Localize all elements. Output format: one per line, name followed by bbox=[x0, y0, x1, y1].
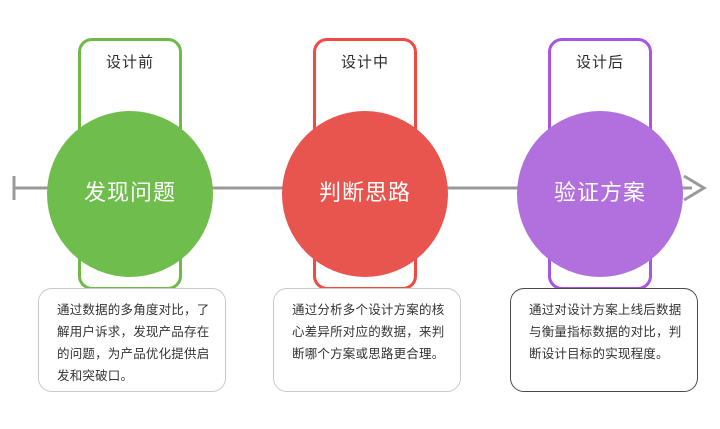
stage-circle-2[interactable]: 判断思路 bbox=[282, 111, 448, 277]
phase-label-3: 设计后 bbox=[480, 52, 720, 72]
stage-during-design[interactable]: 设计中 判断思路 通过分析多个设计方案的核心差异所对应的数据，来判断哪个方案或思… bbox=[245, 0, 485, 429]
stage-before-design[interactable]: 设计前 发现问题 通过数据的多角度对比，了解用户诉求，发现产品存在的问题，为产品… bbox=[10, 0, 250, 429]
description-text-3: 通过对设计方案上线后数据与衡量指标数据的对比，判断设计目标的实现程度。 bbox=[529, 299, 683, 365]
description-box-2: 通过分析多个设计方案的核心差异所对应的数据，来判断哪个方案或思路更合理。 bbox=[273, 288, 461, 392]
description-text-2: 通过分析多个设计方案的核心差异所对应的数据，来判断哪个方案或思路更合理。 bbox=[292, 299, 446, 365]
stage-circle-3[interactable]: 验证方案 bbox=[517, 111, 683, 277]
phase-label-2: 设计中 bbox=[245, 52, 485, 72]
description-text-1: 通过数据的多角度对比，了解用户诉求，发现产品存在的问题，为产品优化提供启发和突破… bbox=[57, 299, 211, 387]
stage-circle-1[interactable]: 发现问题 bbox=[47, 111, 213, 277]
circle-label-1: 发现问题 bbox=[84, 181, 176, 207]
description-box-1: 通过数据的多角度对比，了解用户诉求，发现产品存在的问题，为产品优化提供启发和突破… bbox=[38, 288, 226, 392]
stage-after-design[interactable]: 设计后 验证方案 通过对设计方案上线后数据与衡量指标数据的对比，判断设计目标的实… bbox=[480, 0, 720, 429]
circle-label-3: 验证方案 bbox=[554, 181, 646, 207]
circle-label-2: 判断思路 bbox=[319, 181, 411, 207]
diagram-canvas: 设计前 发现问题 通过数据的多角度对比，了解用户诉求，发现产品存在的问题，为产品… bbox=[0, 0, 720, 429]
phase-label-1: 设计前 bbox=[10, 52, 250, 72]
description-box-3: 通过对设计方案上线后数据与衡量指标数据的对比，判断设计目标的实现程度。 bbox=[510, 288, 698, 392]
